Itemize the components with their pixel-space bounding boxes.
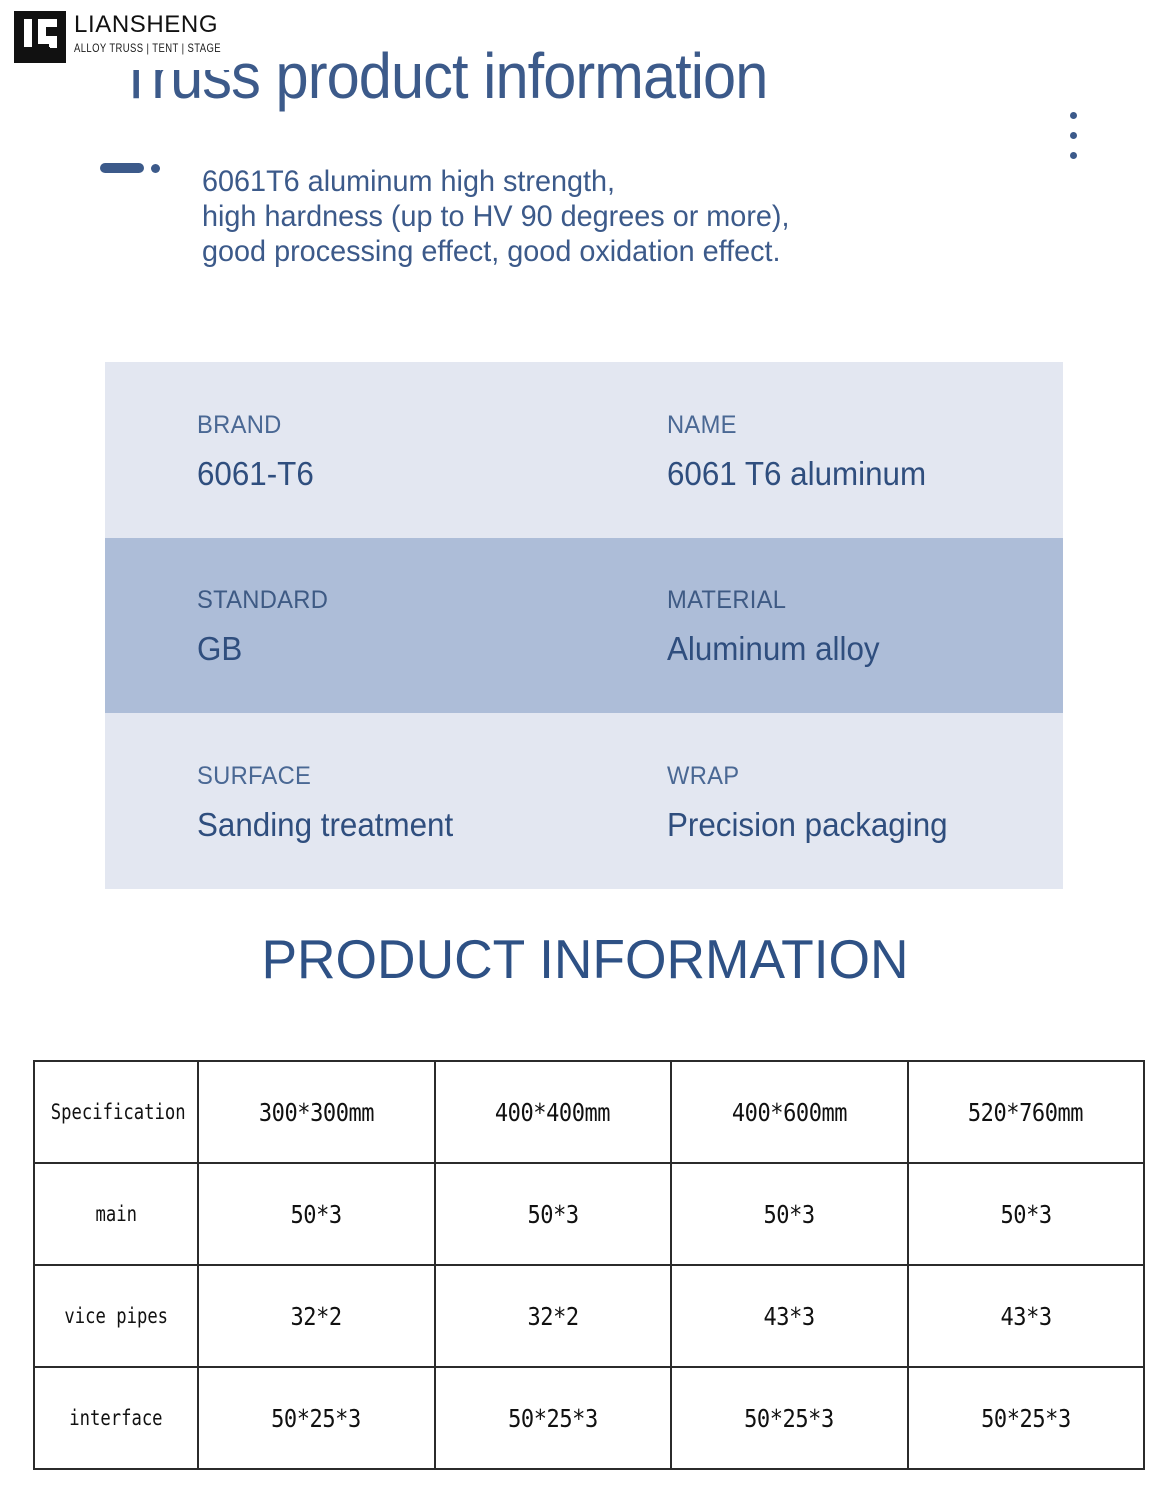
- table-cell: 50*3: [435, 1163, 672, 1265]
- table-row-label: vice pipes: [34, 1265, 198, 1367]
- table-row: vice pipes 32*2 32*2 43*3 43*3: [34, 1265, 1144, 1367]
- spec-value: 6061 T6 aluminum: [667, 457, 1114, 490]
- logo-tagline: ALLOY TRUSS | TENT | STAGE: [74, 42, 221, 56]
- brand-logo: LIANSHENG ALLOY TRUSS | TENT | STAGE: [14, 10, 230, 68]
- product-specification-table: Specification 300*300mm 400*400mm 400*60…: [33, 1060, 1145, 1470]
- table-cell: 50*25*3: [908, 1367, 1145, 1469]
- vertical-three-dots-icon: [1070, 112, 1077, 172]
- section-heading: PRODUCT INFORMATION: [18, 932, 1153, 987]
- table-row: main 50*3 50*3 50*3 50*3: [34, 1163, 1144, 1265]
- table-header-cell: 400*400mm: [435, 1061, 672, 1163]
- table-cell: 50*3: [671, 1163, 908, 1265]
- table-cell: 50*25*3: [435, 1367, 672, 1469]
- table-row: interface 50*25*3 50*25*3 50*25*3 50*25*…: [34, 1367, 1144, 1469]
- spec-cell-brand: BRAND 6061-T6: [197, 411, 667, 490]
- intro-line: high hardness (up to HV 90 degrees or mo…: [202, 199, 790, 234]
- intro-paragraph: 6061T6 aluminum high strength, high hard…: [202, 164, 790, 269]
- spec-panel-row: SURFACE Sanding treatment WRAP Precision…: [105, 713, 1063, 889]
- table-header-cell: Specification: [34, 1061, 198, 1163]
- spec-value: Sanding treatment: [197, 808, 644, 841]
- table-cell: 32*2: [435, 1265, 672, 1367]
- bullet-dash: [100, 163, 144, 173]
- bullet-dot: [151, 164, 160, 173]
- spec-label: MATERIAL: [667, 586, 1114, 615]
- table-cell: 43*3: [908, 1265, 1145, 1367]
- logo-text-block: LIANSHENG ALLOY TRUSS | TENT | STAGE: [74, 10, 221, 53]
- spec-cell-wrap: WRAP Precision packaging: [667, 762, 1137, 841]
- spec-label: BRAND: [197, 411, 644, 440]
- intro-line: 6061T6 aluminum high strength,: [202, 164, 790, 199]
- table-row-label: main: [34, 1163, 198, 1265]
- table-cell: 50*3: [198, 1163, 435, 1265]
- spec-label: SURFACE: [197, 762, 644, 791]
- table-cell: 50*25*3: [671, 1367, 908, 1469]
- logo-brand-name: LIANSHENG: [74, 13, 221, 37]
- spec-value: Precision packaging: [667, 808, 1114, 841]
- table-row-header: Specification 300*300mm 400*400mm 400*60…: [34, 1061, 1144, 1163]
- spec-label: STANDARD: [197, 586, 644, 615]
- spec-value: GB: [197, 632, 644, 665]
- dash-dot-bullet-icon: [100, 163, 160, 173]
- specification-panel: BRAND 6061-T6 NAME 6061 T6 aluminum STAN…: [105, 362, 1063, 889]
- spec-panel-row: BRAND 6061-T6 NAME 6061 T6 aluminum: [105, 362, 1063, 538]
- spec-cell-material: MATERIAL Aluminum alloy: [667, 586, 1137, 665]
- spec-value: Aluminum alloy: [667, 632, 1114, 665]
- table-cell: 32*2: [198, 1265, 435, 1367]
- table-header-cell: 300*300mm: [198, 1061, 435, 1163]
- table-header-cell: 400*600mm: [671, 1061, 908, 1163]
- spec-cell-surface: SURFACE Sanding treatment: [197, 762, 667, 841]
- table-cell: 50*25*3: [198, 1367, 435, 1469]
- spec-label: WRAP: [667, 762, 1114, 791]
- spec-label: NAME: [667, 411, 1114, 440]
- table-cell: 43*3: [671, 1265, 908, 1367]
- spec-cell-standard: STANDARD GB: [197, 586, 667, 665]
- ls-monogram-icon: [14, 11, 66, 63]
- table-row-label: interface: [34, 1367, 198, 1469]
- intro-line: good processing effect, good oxidation e…: [202, 234, 790, 269]
- table-header-cell: 520*760mm: [908, 1061, 1145, 1163]
- spec-panel-row: STANDARD GB MATERIAL Aluminum alloy: [105, 538, 1063, 713]
- spec-value: 6061-T6: [197, 457, 644, 490]
- spec-cell-name: NAME 6061 T6 aluminum: [667, 411, 1137, 490]
- table-cell: 50*3: [908, 1163, 1145, 1265]
